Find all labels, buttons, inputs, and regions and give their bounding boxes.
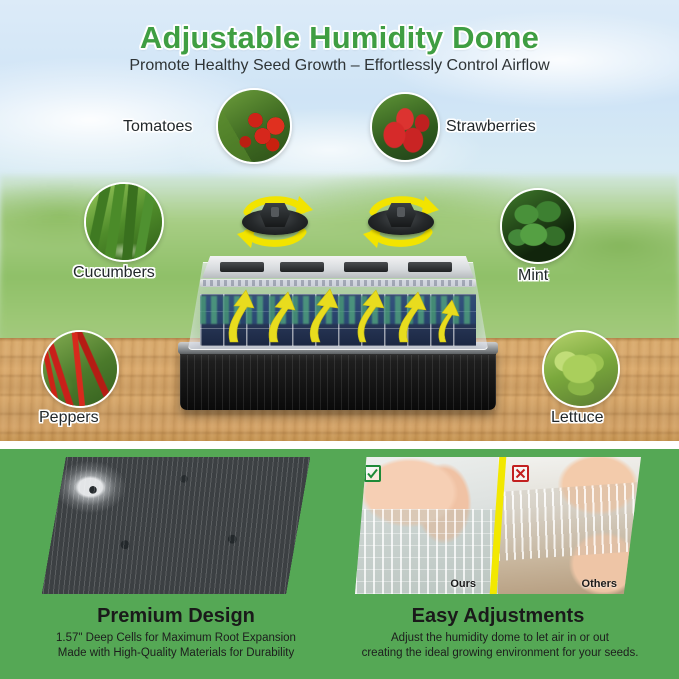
page-subtitle: Promote Healthy Seed Growth – Effortless… <box>0 57 679 75</box>
produce-label-tomatoes: Tomatoes <box>123 118 192 136</box>
feature-line-easy-1: Adjust the humidity dome to let air in o… <box>330 631 670 646</box>
page-title: Adjustable Humidity Dome <box>0 20 679 56</box>
dome-top-panel <box>202 256 474 278</box>
produce-circle-lettuce <box>542 330 620 408</box>
produce-label-cucumbers: Cucumbers <box>73 264 155 282</box>
vent-knob-left <box>233 190 317 252</box>
produce-label-strawberries: Strawberries <box>446 118 536 136</box>
comparison-others: Others <box>498 457 641 594</box>
tomatoes-photo <box>216 88 292 164</box>
knob-hub <box>386 203 416 227</box>
produce-label-lettuce: Lettuce <box>551 409 603 427</box>
dome-vent-slot <box>408 262 452 272</box>
produce-label-peppers: Peppers <box>39 409 99 427</box>
produce-circle-cucumbers <box>84 182 164 262</box>
peppers-photo <box>41 330 119 408</box>
features-section: Ours Others Premium Design 1.57" Deep Ce… <box>0 449 679 679</box>
vent-knob-right <box>359 190 443 252</box>
seed-starter-tray-with-humidity-dome <box>178 250 498 410</box>
produce-circle-peppers <box>41 330 119 408</box>
produce-circle-tomatoes <box>216 88 292 164</box>
comparison-ours: Ours <box>355 457 498 594</box>
hero-section: Adjustable Humidity Dome Promote Healthy… <box>0 0 679 441</box>
airflow-arrow-icon <box>200 286 476 348</box>
feature-line-premium-1: 1.57" Deep Cells for Maximum Root Expans… <box>6 631 346 646</box>
strawberries-photo <box>370 92 440 162</box>
tray-base <box>180 348 496 410</box>
comparison-caption-ours: Ours <box>450 578 476 590</box>
dome-vent-slot <box>280 262 324 272</box>
checkbox-check-icon <box>364 465 381 482</box>
feature-title-easy-adjustments: Easy Adjustments <box>348 605 648 628</box>
feature-line-premium-2: Made with High-Quality Materials for Dur… <box>6 646 346 661</box>
checkbox-cross-icon <box>512 465 529 482</box>
dome-vent-slot <box>344 262 388 272</box>
comparison-caption-others: Others <box>582 578 617 590</box>
cucumbers-photo <box>84 182 164 262</box>
lettuce-photo <box>542 330 620 408</box>
produce-circle-strawberries <box>370 92 440 162</box>
mint-photo <box>500 188 576 264</box>
produce-circle-mint <box>500 188 576 264</box>
produce-label-mint: Mint <box>518 267 548 285</box>
feature-title-premium-design: Premium Design <box>26 605 326 628</box>
feature-line-easy-2: creating the ideal growing environment f… <box>330 646 670 661</box>
knob-hub <box>260 203 290 227</box>
dome-vent-slot <box>220 262 264 272</box>
infographic-page: Adjustable Humidity Dome Promote Healthy… <box>0 0 679 679</box>
deep-cells-closeup-photo <box>42 457 310 594</box>
comparison-photo: Ours Others <box>355 457 641 594</box>
